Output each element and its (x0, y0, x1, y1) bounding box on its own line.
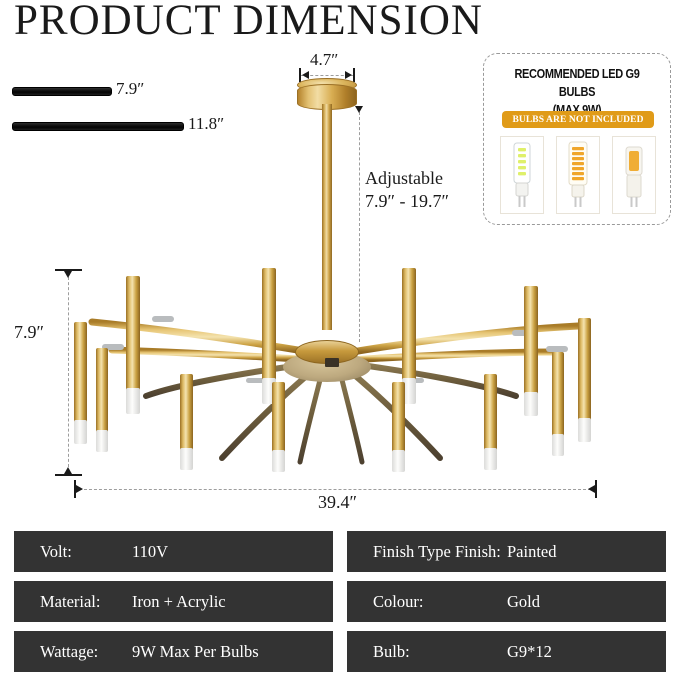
g9-bulb-warm-amber-card (556, 136, 600, 214)
fixture-width-cap-right (595, 480, 597, 498)
spec-row-wattage: Wattage: 9W Max Per Bulbs (14, 631, 333, 672)
spec-key-wattage: Wattage: (14, 642, 132, 662)
canopy-dim-cap-right (353, 68, 355, 82)
hub-badge (325, 358, 339, 367)
fixture-height-cap-bottom (55, 474, 82, 476)
spec-value-material: Iron + Acrylic (132, 592, 226, 612)
canopy-dim-arrow-right (345, 71, 352, 79)
canopy-dim-cap-left (299, 68, 301, 82)
spec-value-finish-type: Painted (507, 542, 557, 562)
spec-value-colour: Gold (507, 592, 540, 612)
long-extension-rod (12, 122, 184, 131)
product-dimension-infographic: PRODUCT DIMENSION 7.9″ 11.8″ RECOMMENDED… (0, 0, 679, 684)
adjustable-label: Adjustable (365, 168, 443, 189)
spec-row-colour: Colour: Gold (347, 581, 666, 622)
fixture-width-label: 39.4″ (318, 492, 357, 513)
legend-title-line1: RECOMMENDED LED G9 BULBS (495, 65, 659, 101)
down-rod (322, 104, 332, 330)
adjustable-dim-line (359, 112, 360, 342)
specification-table: Volt: 110V Finish Type Finish: Painted M… (14, 531, 666, 672)
spec-key-finish-type: Finish Type Finish: (347, 542, 507, 562)
bulbs-not-included-badge: BULBS ARE NOT INCLUDED (502, 111, 654, 128)
bulb-sample-row (494, 136, 662, 216)
spec-key-volt: Volt: (14, 542, 132, 562)
spec-value-volt: 110V (132, 542, 168, 562)
g9-bulb-frosted-card (612, 136, 656, 214)
g9-bulb-cool-white-icon (507, 139, 537, 211)
canopy-width-label: 4.7″ (310, 50, 338, 70)
spec-value-wattage: 9W Max Per Bulbs (132, 642, 259, 662)
adjustable-dim-arrow (355, 106, 363, 113)
long-rod-length-label: 11.8″ (188, 114, 224, 134)
canopy-dim-arrow-left (302, 71, 309, 79)
fixture-width-arrow-left (76, 485, 83, 493)
spec-row-material: Material: Iron + Acrylic (14, 581, 333, 622)
g9-bulb-frosted-icon (619, 139, 649, 211)
spec-value-bulb: G9*12 (507, 642, 552, 662)
g9-bulb-cool-white-card (500, 136, 544, 214)
short-extension-rod (12, 87, 112, 96)
spec-key-material: Material: (14, 592, 132, 612)
spec-key-bulb: Bulb: (347, 642, 507, 662)
page-title: PRODUCT DIMENSION (14, 0, 483, 45)
fixture-height-dim-line (68, 272, 69, 472)
fixture-width-dim-line (74, 489, 596, 490)
fixture-height-label: 7.9″ (14, 322, 44, 343)
spec-key-colour: Colour: (347, 592, 507, 612)
short-rod-length-label: 7.9″ (116, 79, 144, 99)
recommended-bulbs-legend: RECOMMENDED LED G9 BULBS (MAX 9W) BULBS … (483, 53, 671, 225)
adjustable-range-label: 7.9″ - 19.7″ (365, 191, 449, 212)
fixture-height-arrow-bottom (64, 467, 72, 474)
fixture-width-arrow-right (588, 485, 595, 493)
spec-row-finish-type: Finish Type Finish: Painted (347, 531, 666, 572)
spec-row-volt: Volt: 110V (14, 531, 333, 572)
spec-row-bulb: Bulb: G9*12 (347, 631, 666, 672)
fixture-height-arrow-top (64, 271, 72, 278)
g9-bulb-warm-amber-icon (563, 139, 593, 211)
